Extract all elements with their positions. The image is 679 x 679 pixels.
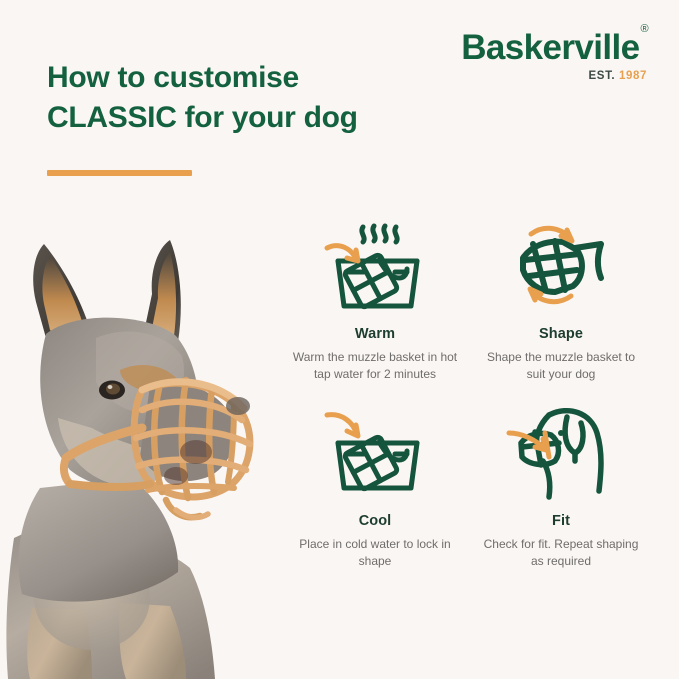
- brand-logo: Baskerville® EST. 1987: [461, 30, 647, 83]
- logo-wordmark-text: Baskerville: [461, 28, 639, 67]
- logo-established-row: EST. 1987: [461, 71, 647, 83]
- logo-wordmark: Baskerville®: [461, 30, 647, 65]
- step-description: Check for fit. Repeat shaping as require…: [478, 536, 644, 570]
- warm-basin-icon: [292, 214, 458, 316]
- step-shape: Shape Shape the muzzle basket to suit yo…: [474, 214, 648, 383]
- step-description: Shape the muzzle basket to suit your dog: [478, 349, 644, 383]
- logo-established-year: 1987: [619, 70, 647, 82]
- step-description: Warm the muzzle basket in hot tap water …: [292, 349, 458, 383]
- infographic-page: Baskerville® EST. 1987 How to customise …: [0, 0, 679, 679]
- step-title: Cool: [292, 513, 458, 529]
- step-fit: Fit Check for fit. Repeat shaping as req…: [474, 401, 648, 570]
- step-title: Warm: [292, 326, 458, 342]
- logo-established-label: EST.: [589, 70, 616, 82]
- shape-muzzle-icon: [478, 214, 644, 316]
- fit-dog-icon: [478, 401, 644, 503]
- page-title: How to customise CLASSIC for your dog: [47, 58, 447, 138]
- dog-with-muzzle-photo: [0, 238, 272, 679]
- step-warm: Warm Warm the muzzle basket in hot tap w…: [288, 214, 462, 383]
- page-title-line-1: How to customise: [47, 58, 447, 98]
- step-description: Place in cold water to lock in shape: [292, 536, 458, 570]
- title-accent-rule: [47, 170, 192, 176]
- registered-trademark-icon: ®: [640, 23, 648, 35]
- cool-basin-icon: [292, 401, 458, 503]
- step-title: Shape: [478, 326, 644, 342]
- step-title: Fit: [478, 513, 644, 529]
- page-title-line-2: CLASSIC for your dog: [47, 98, 447, 138]
- steps-grid: Warm Warm the muzzle basket in hot tap w…: [288, 214, 648, 570]
- step-cool: Cool Place in cold water to lock in shap…: [288, 401, 462, 570]
